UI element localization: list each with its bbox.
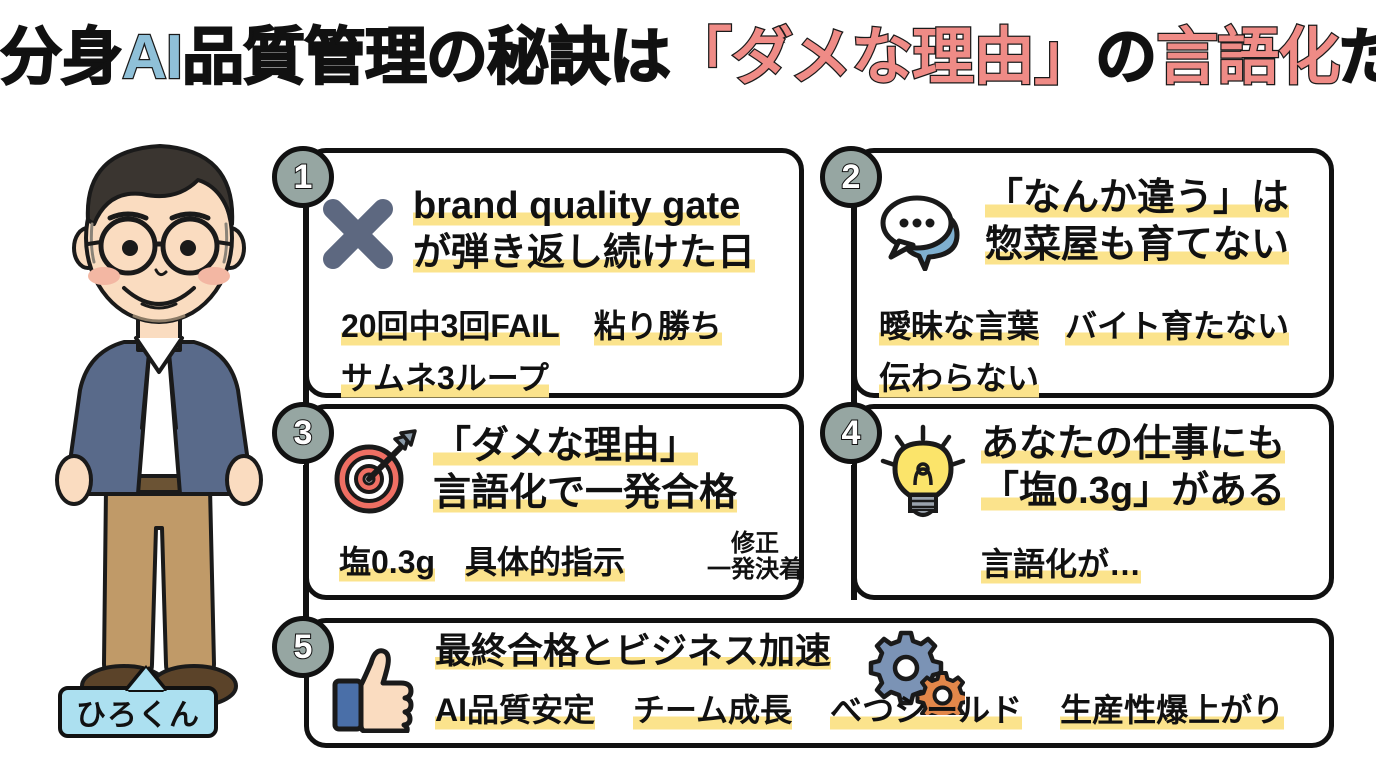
card-1-headline-line-2: が弾き返し続けた日 [413, 232, 755, 274]
card-2-tag-1[interactable]: 曖昧な言葉 [879, 301, 1039, 347]
title-segment-3: 品質管理の秘訣は [182, 23, 670, 92]
card-5-headline: 最終合格とビジネス加速 [435, 631, 831, 671]
title-segment-4: 「ダメな理由」 [670, 23, 1095, 92]
title-segment-2: AI [122, 23, 182, 92]
title-segment-1: 分身 [0, 23, 122, 92]
card-1-tag-1[interactable]: 20回中3回FAIL [341, 301, 560, 347]
card-3-headline-line-1: 「ダメな理由」 [433, 425, 698, 467]
card-3-badge: 3 [272, 402, 334, 464]
card-3-side-note-line-1: 修正 [731, 531, 779, 557]
card-4-tag-1[interactable]: 言語化が… [981, 539, 1141, 585]
title-segment-5: の [1095, 23, 1156, 92]
card-3-number: 3 [294, 414, 313, 453]
card-1-headline-line-1: brand quality gate [413, 185, 740, 227]
card-2-number: 2 [842, 158, 861, 197]
card-5-headline-line-1: 最終合格とビジネス加速 [435, 630, 831, 671]
character-name-label: ひろくん [76, 690, 200, 734]
card-2-tag-3[interactable]: 伝わらない [879, 353, 1039, 399]
card-5-tag-2[interactable]: チーム成長 [633, 685, 792, 731]
card-1-number: 1 [294, 158, 313, 197]
card-5-tag-4[interactable]: 生産性爆上がり [1060, 685, 1284, 731]
card-3-tag-1[interactable]: 塩0.3g [339, 537, 435, 583]
card-4-taglist: 言語化が… [981, 539, 1311, 585]
card-2-headline-line-2: 惣菜屋も育てない [985, 224, 1289, 266]
card-4-number: 4 [842, 414, 861, 453]
card-3-headline: 「ダメな理由」 言語化で一発合格 [433, 425, 737, 514]
card-1-badge: 1 [272, 146, 334, 208]
card-3-headline-line-2: 言語化で一発合格 [433, 472, 737, 514]
card-5-badge: 5 [272, 616, 334, 678]
character-nametag: ひろくん [58, 686, 218, 738]
card-2-headline-line-1: 「なんか違う」は [985, 177, 1289, 219]
card-3-taglist: 塩0.3g 具体的指示 [339, 537, 729, 583]
card-3-side-note-line-2: 一発決着 [707, 557, 803, 583]
card-3[interactable]: 「ダメな理由」 言語化で一発合格 塩0.3g 具体的指示 修正 一発決着 [304, 404, 804, 600]
card-1[interactable]: brand quality gate が弾き返し続けた日 20回中3回FAIL … [304, 148, 804, 398]
title-segment-6: 言語化 [1156, 23, 1339, 92]
target-dartboard-icon [329, 429, 419, 515]
card-3-side-note: 修正 一発決着 [707, 531, 803, 583]
card-2[interactable]: 「なんか違う」は 惣菜屋も育てない 曖昧な言葉 バイト育たない 伝わらない [852, 148, 1334, 398]
card-5-tag-1[interactable]: AI品質安定 [435, 685, 595, 731]
card-1-headline: brand quality gate が弾き返し続けた日 [413, 185, 755, 274]
card-1-tag-3[interactable]: サムネ3ループ [341, 353, 549, 399]
card-2-tag-2[interactable]: バイト育たない [1065, 301, 1289, 347]
card-2-badge: 2 [820, 146, 882, 208]
card-4[interactable]: あなたの仕事にも 「塩0.3g」がある 言語化が… [852, 404, 1334, 600]
card-3-tag-2[interactable]: 具体的指示 [465, 537, 625, 583]
page-title: 分身AI品質管理の秘訣は「ダメな理由」の言語化だった [0, 16, 1376, 100]
infographic-canvas: 分身AI品質管理の秘訣は「ダメな理由」の言語化だった [0, 0, 1376, 768]
card-4-headline-line-2: 「塩0.3g」がある [981, 470, 1285, 512]
card-5-number: 5 [294, 628, 313, 667]
card-1-taglist: 20回中3回FAIL 粘り勝ち サムネ3ループ [341, 301, 801, 399]
lightbulb-idea-icon [877, 423, 969, 523]
card-4-headline: あなたの仕事にも 「塩0.3g」がある [981, 423, 1285, 512]
card-4-badge: 4 [820, 402, 882, 464]
card-2-headline: 「なんか違う」は 惣菜屋も育てない [985, 177, 1289, 266]
card-1-tag-2[interactable]: 粘り勝ち [594, 301, 722, 347]
card-5-taglist: AI品質安定 チーム成長 べつシールド 生産性爆上がり [435, 685, 1315, 731]
cross-x-icon [319, 195, 397, 273]
card-4-headline-line-1: あなたの仕事にも [981, 423, 1285, 465]
nametag-pointer [128, 668, 164, 690]
card-5[interactable]: 最終合格とビジネス加速 AI品質安定 チーム成長 [304, 618, 1334, 748]
speech-bubbles-icon [879, 183, 971, 271]
thumbs-up-icon [331, 641, 415, 733]
title-segment-7: だった [1339, 23, 1376, 92]
card-2-taglist: 曖昧な言葉 バイト育たない 伝わらない [879, 301, 1329, 399]
card-5-tag-3[interactable]: べつシールド [830, 685, 1022, 731]
